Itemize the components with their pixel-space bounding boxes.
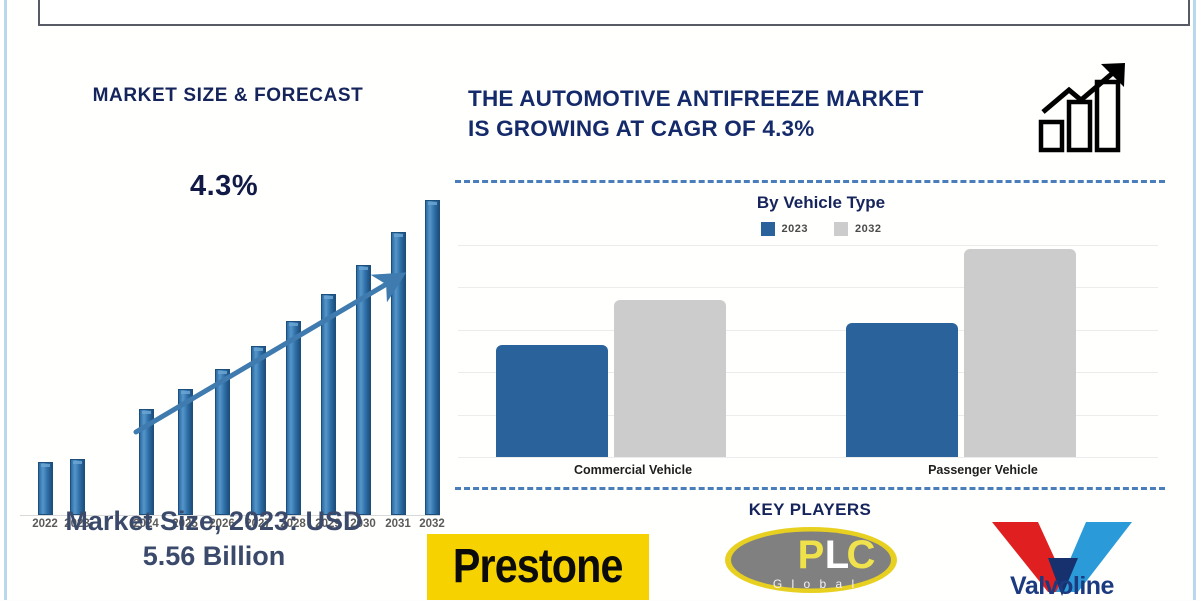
svg-text:L: L (825, 533, 849, 577)
key-players-heading: KEY PLAYERS (430, 500, 1190, 520)
market-size-forecast-chart: 2022202320242025202620272028202920302031… (8, 120, 448, 460)
market-size-value: Market Size, 2023: USD 5.56 Billion (14, 504, 414, 573)
divider-top (455, 180, 1165, 183)
forecast-bar (391, 232, 406, 515)
market-size-forecast-panel: MARKET SIZE & FORECAST 4.3% 202220232024… (8, 60, 448, 490)
growth-statement-line-2: IS GROWING AT CAGR OF 4.3% (468, 114, 1028, 144)
logo-plc-subtext: G l o b a l (773, 577, 857, 591)
logo-prestone: Prestone (427, 534, 649, 600)
svg-text:P: P (798, 533, 825, 577)
bar-chart-growth-icon (1035, 60, 1145, 155)
growth-statement-line-1: THE AUTOMOTIVE ANTIFREEZE MARKET (468, 84, 1028, 114)
market-size-line-1: Market Size, 2023: USD (14, 504, 414, 539)
market-size-forecast-heading: MARKET SIZE & FORECAST (8, 85, 448, 107)
forecast-bar (321, 294, 336, 515)
legend-swatch (761, 222, 775, 236)
legend-item: 2032 (834, 222, 881, 236)
forecast-bar (425, 200, 440, 515)
infographic-page: GLOBAL AUTOMOTIVE ANTIFREEZE MARKET MARK… (0, 0, 1200, 600)
logo-prestone-text: Prestone (453, 543, 623, 591)
legend-swatch (834, 222, 848, 236)
divider-bottom (455, 487, 1165, 490)
page-title: GLOBAL AUTOMOTIVE ANTIFREEZE MARKET (38, 0, 1190, 7)
segment-bar (846, 323, 958, 457)
segment-chart-plot: Commercial VehiclePassenger Vehicle (458, 245, 1158, 457)
forecast-bars (8, 120, 448, 515)
segment-bar (614, 300, 726, 457)
forecast-bar (251, 346, 266, 515)
segment-bar (496, 345, 608, 457)
legend-label: 2032 (855, 223, 881, 235)
gridline (458, 245, 1158, 246)
growth-statement: THE AUTOMOTIVE ANTIFREEZE MARKET IS GROW… (468, 84, 1028, 143)
forecast-bar (286, 321, 301, 515)
logo-valvoline-text: Valvoline (986, 572, 1138, 601)
market-size-line-2: 5.56 Billion (14, 539, 414, 574)
segment-category-label: Passenger Vehicle (808, 463, 1158, 477)
segment-chart-legend: 20232032 (450, 222, 1192, 236)
legend-label: 2023 (782, 223, 808, 235)
legend-item: 2023 (761, 222, 808, 236)
gridline (458, 457, 1158, 458)
logo-plc-global: P L C G l o b a l (718, 524, 904, 600)
segment-chart-title: By Vehicle Type (450, 193, 1192, 213)
segment-bar (964, 249, 1076, 457)
forecast-bar (356, 265, 371, 515)
growth-and-segment-panel: THE AUTOMOTIVE ANTIFREEZE MARKET IS GROW… (450, 60, 1192, 492)
segment-category-label: Commercial Vehicle (458, 463, 808, 477)
svg-text:C: C (847, 533, 876, 577)
